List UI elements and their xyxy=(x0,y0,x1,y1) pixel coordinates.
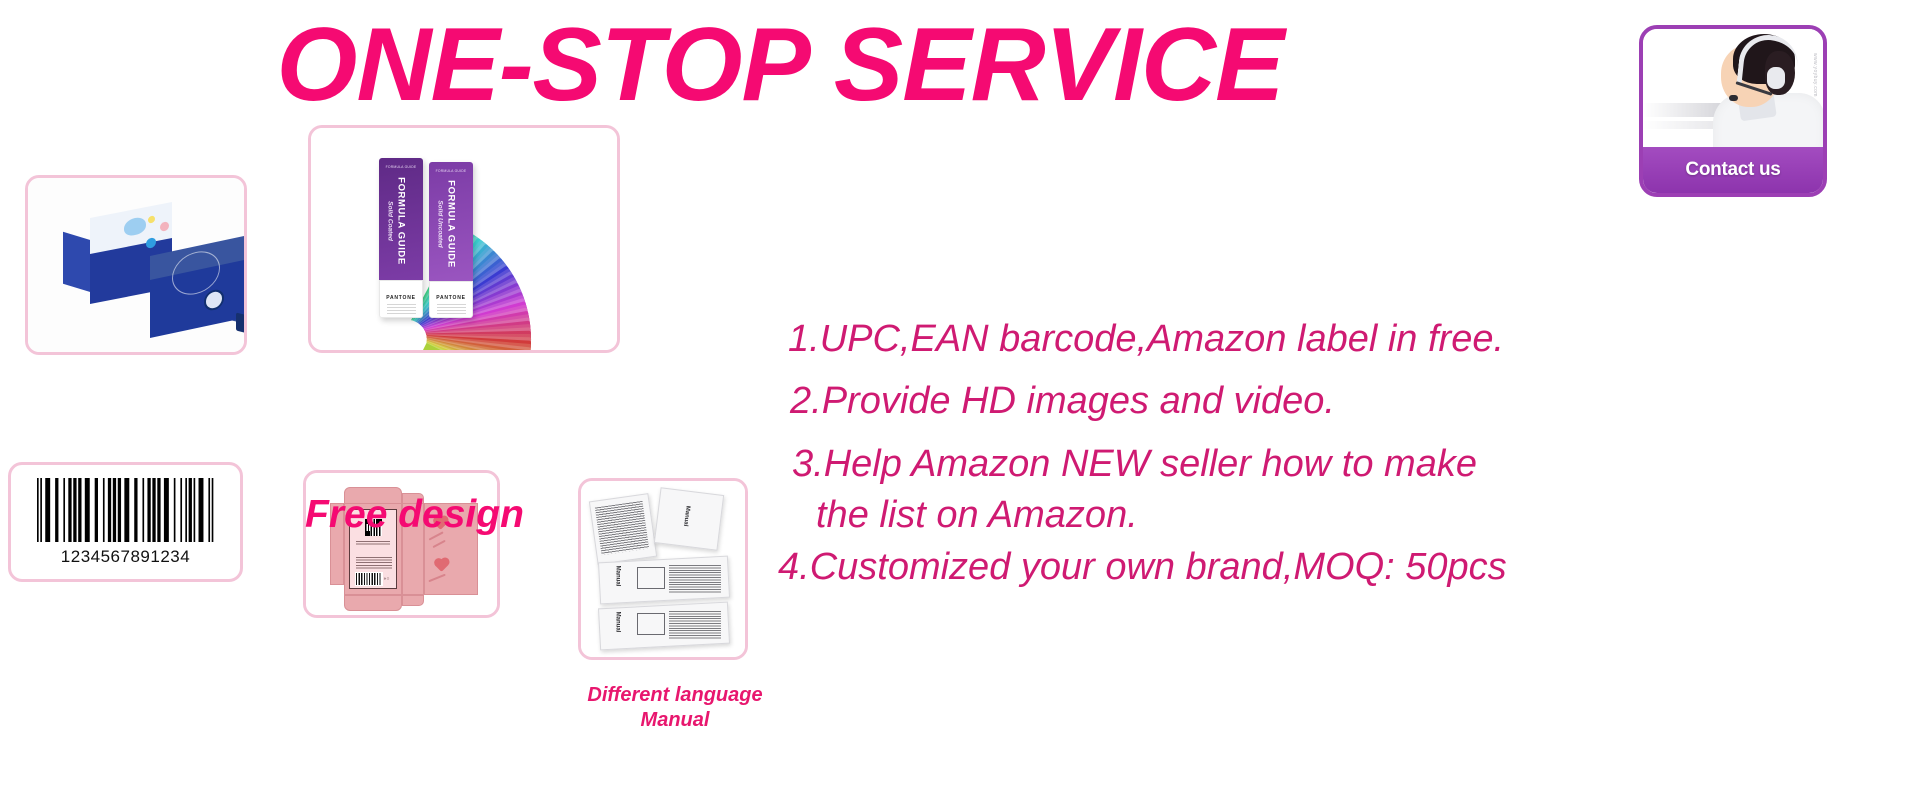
pantone-guide-photo: FORMULA GUIDE FORMULA GUIDE Solid Coated… xyxy=(308,125,620,353)
photo-watermark: www.yoybuy.com xyxy=(1812,53,1818,97)
pantone-brand: PANTONE xyxy=(436,295,466,301)
guide-foot: PANTONE xyxy=(379,280,423,318)
service-list-item: 1.UPC,EAN barcode,Amazon label in free. xyxy=(788,320,1504,358)
barcode-label-photo: 1234567891234 xyxy=(8,462,243,582)
manual-diagram-1 xyxy=(637,567,665,589)
guide-fine-print xyxy=(437,304,466,314)
headset-earcup-icon xyxy=(1767,67,1785,89)
customer-service-photo: www.yoybuy.com xyxy=(1643,29,1823,147)
contact-us-label: Contact us xyxy=(1685,159,1780,181)
pantone-guide-coated: FORMULA GUIDE FORMULA GUIDE Solid Coated… xyxy=(379,158,423,318)
dieline-bottom-flap xyxy=(344,595,402,611)
pantone-brand: PANTONE xyxy=(386,295,416,301)
manual-diagram-2 xyxy=(637,613,665,635)
manual-scene: Manual Manual Manual xyxy=(581,481,745,657)
guide-title: FORMULA GUIDE xyxy=(396,177,407,265)
contact-us-button[interactable]: Contact us xyxy=(1643,147,1823,193)
guide-cap: FORMULA GUIDE FORMULA GUIDE Solid Uncoat… xyxy=(429,162,473,281)
box-lid-side xyxy=(63,232,91,293)
guide-foot: PANTONE xyxy=(429,281,473,318)
manual-photo: Manual Manual Manual xyxy=(578,478,748,660)
barcode-graphic xyxy=(37,478,215,542)
page-title: ONE-STOP SERVICE xyxy=(0,8,1560,122)
service-list-item: the list on Amazon. xyxy=(816,496,1138,534)
product-box-photo xyxy=(25,175,247,355)
service-list-item: 2.Provide HD images and video. xyxy=(790,382,1335,420)
manual-caption-line-1: Different language xyxy=(575,683,775,708)
guide-cap: FORMULA GUIDE FORMULA GUIDE Solid Coated xyxy=(379,158,423,280)
guide-top-label: FORMULA GUIDE xyxy=(386,165,417,169)
dieline-tab-b xyxy=(402,595,424,606)
guide-subtitle: Solid Uncoated xyxy=(437,200,444,247)
guide-title: FORMULA GUIDE xyxy=(446,180,457,268)
manual-fold-2-label: Manual xyxy=(614,612,620,633)
dieline-body-lines xyxy=(356,557,392,569)
manual-booklet-cover xyxy=(654,487,724,550)
guide-subtitle: Solid Coated xyxy=(387,201,394,241)
pantone-guide-uncoated: FORMULA GUIDE FORMULA GUIDE Solid Uncoat… xyxy=(429,162,473,318)
dieline-caption-lines xyxy=(356,541,390,546)
headset-mic-icon xyxy=(1729,95,1738,101)
manual-fold-1-text xyxy=(669,565,721,593)
service-list-item: 4.Customized your own brand,MOQ: 50pcs xyxy=(778,548,1507,586)
manual-fold-1-label: Manual xyxy=(614,566,620,587)
manual-fold-2-text xyxy=(669,611,721,639)
manual-caption: Different language Manual xyxy=(575,683,775,733)
dieline-mark-icon: ◑○ xyxy=(383,576,390,582)
service-list-item: 3.Help Amazon NEW seller how to make xyxy=(792,445,1477,483)
box-scene xyxy=(28,178,244,352)
guide-top-label: FORMULA GUIDE xyxy=(436,169,467,173)
pantone-scene: FORMULA GUIDE FORMULA GUIDE Solid Coated… xyxy=(311,128,617,350)
box-pull-tab xyxy=(236,313,247,334)
manual-caption-line-2: Manual xyxy=(575,708,775,733)
barcode-number: 1234567891234 xyxy=(61,547,190,567)
dieline-barcode-icon xyxy=(355,572,383,586)
contact-us-widget[interactable]: www.yoybuy.com Contact us xyxy=(1639,25,1827,197)
guide-fine-print xyxy=(387,304,416,314)
free-design-caption: Free design xyxy=(305,495,524,534)
manual-sheet-1-text xyxy=(595,501,649,555)
